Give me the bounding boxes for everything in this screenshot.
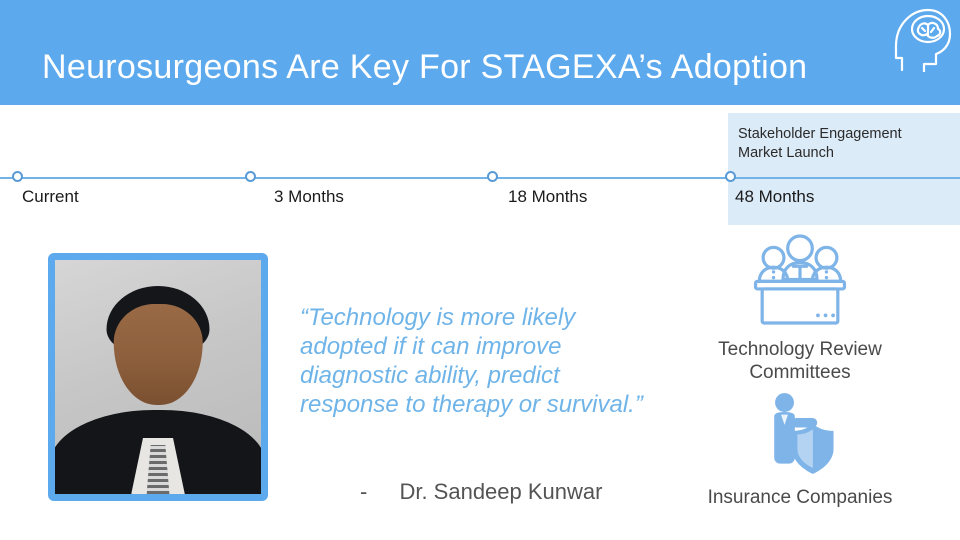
timeline-node-3-months[interactable]: [245, 171, 256, 182]
timeline-node-48-months[interactable]: [725, 171, 736, 182]
person-shield-icon: [680, 392, 920, 480]
attribution-dash: -: [360, 479, 367, 504]
brain-head-icon: [886, 2, 952, 72]
portrait-frame: [48, 253, 268, 501]
timeline-callout-line-1: Stakeholder Engagement: [738, 125, 956, 144]
portrait-photo: [55, 260, 261, 494]
stakeholder-label-insurance-companies: Insurance Companies: [680, 486, 920, 509]
timeline-node-current[interactable]: [12, 171, 23, 182]
quote-text: “Technology is more likely adopted if it…: [300, 303, 645, 419]
header-bar: Neurosurgeons Are Key For STAGEXA’s Adop…: [0, 0, 960, 105]
timeline-label-current: Current: [22, 187, 79, 207]
attribution-name: Dr. Sandeep Kunwar: [399, 479, 602, 504]
timeline-label-48-months: 48 Months: [735, 187, 814, 207]
timeline-label-18-months: 18 Months: [508, 187, 587, 207]
timeline: Current 3 Months 18 Months 48 Months Sta…: [0, 105, 960, 225]
page-title: Neurosurgeons Are Key For STAGEXA’s Adop…: [42, 48, 807, 87]
stakeholder-item-technology-review-committees: Technology Review Committees: [680, 232, 920, 384]
stakeholder-item-insurance-companies: Insurance Companies: [680, 392, 920, 509]
portrait-face: [114, 304, 203, 405]
timeline-axis-line: [0, 177, 960, 179]
timeline-callout-line-2: Market Launch: [738, 144, 956, 163]
committee-panel-icon: [680, 232, 920, 332]
timeline-node-18-months[interactable]: [487, 171, 498, 182]
quote-attribution: - Dr. Sandeep Kunwar: [360, 479, 602, 505]
timeline-callout: Stakeholder Engagement Market Launch: [738, 125, 956, 163]
timeline-label-3-months: 3 Months: [274, 187, 344, 207]
stakeholder-label-technology-review-committees: Technology Review Committees: [680, 338, 920, 384]
